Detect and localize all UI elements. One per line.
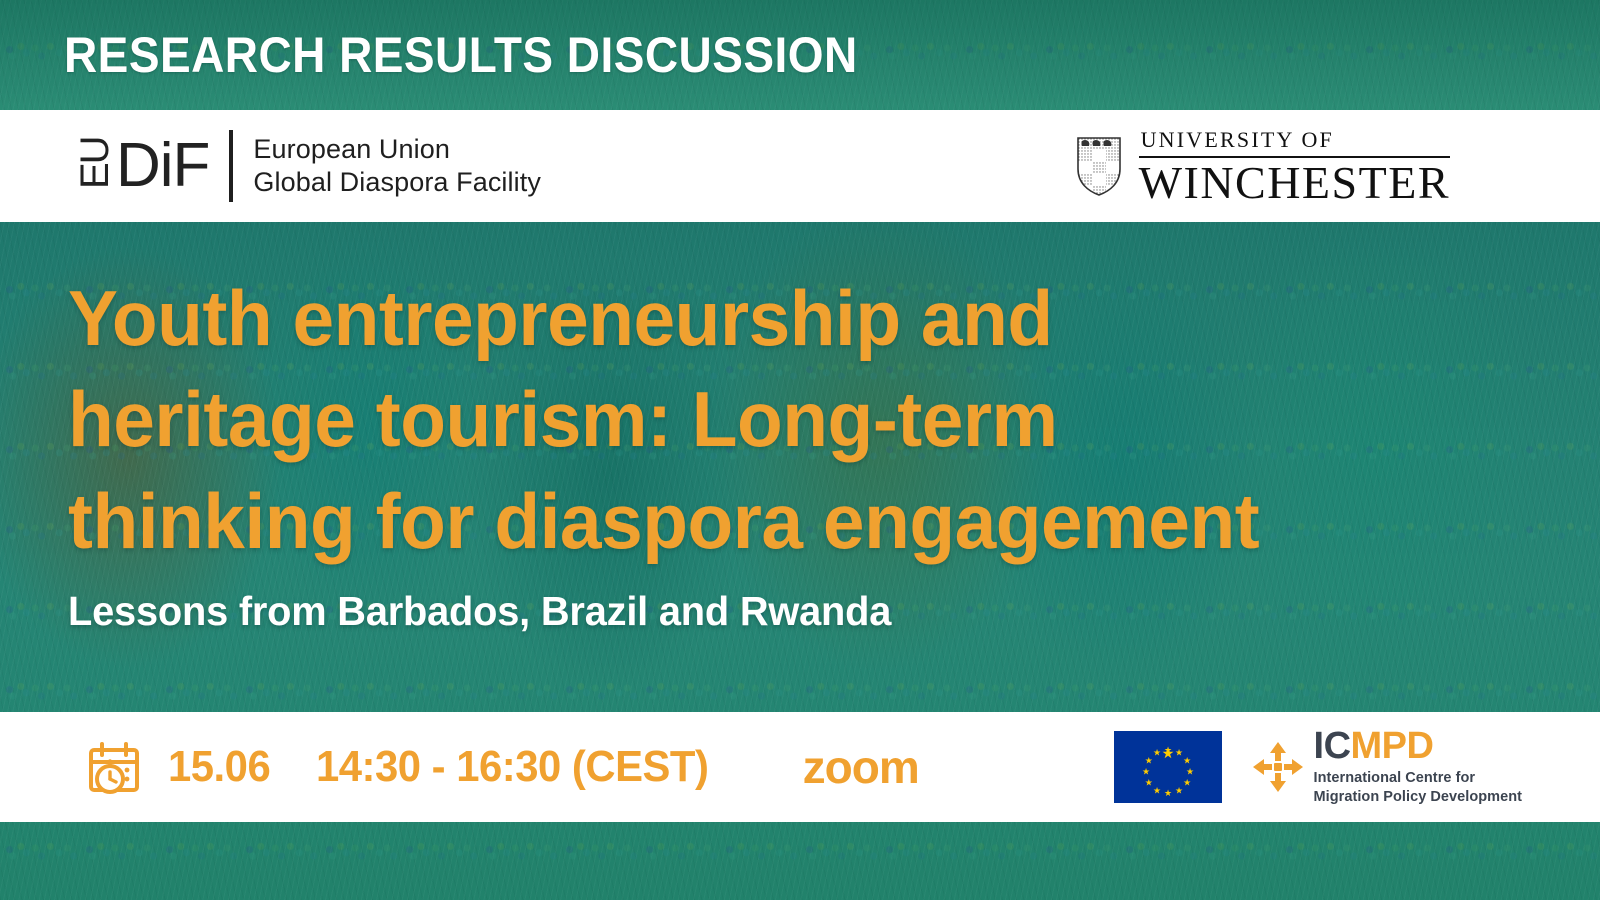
svg-text:★: ★ bbox=[1185, 767, 1193, 777]
icmpd-tagline: International Centre for Migration Polic… bbox=[1314, 769, 1522, 806]
winchester-line-2: WINCHESTER bbox=[1139, 160, 1450, 206]
main-content: Youth entrepreneurship and heritage tour… bbox=[68, 268, 1488, 635]
calendar-clock-icon bbox=[86, 739, 142, 795]
event-subtitle: Lessons from Barbados, Brazil and Rwanda bbox=[68, 588, 1445, 635]
icmpd-tagline-line-2: Migration Policy Development bbox=[1314, 788, 1522, 807]
eudif-wordmark: European Union Global Diaspora Facility bbox=[253, 133, 541, 199]
icmpd-logo: ICMPD International Centre for Migration… bbox=[1252, 727, 1522, 806]
eudif-line-2: Global Diaspora Facility bbox=[253, 166, 541, 199]
eudif-line-1: European Union bbox=[253, 133, 541, 166]
winchester-line-1: UNIVERSITY OF bbox=[1139, 127, 1450, 155]
svg-text:★: ★ bbox=[1183, 777, 1191, 787]
european-union-flag-icon: ★ ★ ★ ★ ★ ★ ★ ★ ★ ★ ★ ★ bbox=[1114, 731, 1222, 803]
svg-text:★: ★ bbox=[1141, 767, 1149, 777]
eudif-logo: EU DiF European Union Global Diaspora Fa… bbox=[72, 130, 541, 202]
footer-bar: 15.06 14:30 - 16:30 (CEST) zoom ★ ★ ★ ★ … bbox=[0, 712, 1600, 822]
icmpd-four-arrows-icon bbox=[1252, 741, 1304, 793]
event-date: 15.06 bbox=[168, 742, 270, 792]
event-time: 14:30 - 16:30 (CEST) bbox=[316, 742, 708, 792]
footer-partner-logos: ★ ★ ★ ★ ★ ★ ★ ★ ★ ★ ★ ★ bbox=[1114, 727, 1522, 806]
winchester-logo: UNIVERSITY OF WINCHESTER bbox=[1075, 127, 1450, 206]
icmpd-wordmark: ICMPD bbox=[1314, 727, 1522, 765]
svg-text:★: ★ bbox=[1174, 747, 1182, 757]
svg-text:★: ★ bbox=[1163, 788, 1171, 798]
icmpd-name-part-1: IC bbox=[1314, 725, 1351, 767]
eudif-dif-glyph: DiF bbox=[116, 135, 209, 197]
eudif-eu-glyph: EU bbox=[75, 143, 115, 189]
icmpd-name-part-2: MPD bbox=[1351, 725, 1434, 767]
event-banner: RESEARCH RESULTS DISCUSSION EU DiF Europ… bbox=[0, 0, 1600, 900]
svg-text:★: ★ bbox=[1163, 745, 1171, 755]
winchester-wordmark: UNIVERSITY OF WINCHESTER bbox=[1139, 127, 1450, 206]
footer-event-details: 15.06 14:30 - 16:30 (CEST) zoom bbox=[86, 739, 919, 795]
icmpd-tagline-line-1: International Centre for bbox=[1314, 769, 1522, 788]
eudif-divider bbox=[229, 130, 233, 202]
icmpd-text-block: ICMPD International Centre for Migration… bbox=[1314, 727, 1522, 806]
zoom-logo: zoom bbox=[803, 740, 919, 794]
title-line-2: heritage tourism: Long-term bbox=[68, 369, 1431, 470]
svg-text:★: ★ bbox=[1144, 777, 1152, 787]
svg-text:★: ★ bbox=[1144, 756, 1152, 766]
header-title: RESEARCH RESULTS DISCUSSION bbox=[64, 30, 858, 80]
winchester-shield-icon bbox=[1075, 135, 1123, 197]
title-line-1: Youth entrepreneurship and bbox=[68, 268, 1431, 369]
title-line-3: thinking for diaspora engagement bbox=[68, 471, 1431, 572]
header-strip: RESEARCH RESULTS DISCUSSION bbox=[0, 0, 1600, 110]
svg-text:★: ★ bbox=[1152, 786, 1160, 796]
svg-text:★: ★ bbox=[1152, 747, 1160, 757]
svg-text:★: ★ bbox=[1174, 786, 1182, 796]
logo-bar: EU DiF European Union Global Diaspora Fa… bbox=[0, 110, 1600, 222]
svg-text:★: ★ bbox=[1183, 756, 1191, 766]
eudif-logomark: EU DiF bbox=[72, 135, 209, 197]
